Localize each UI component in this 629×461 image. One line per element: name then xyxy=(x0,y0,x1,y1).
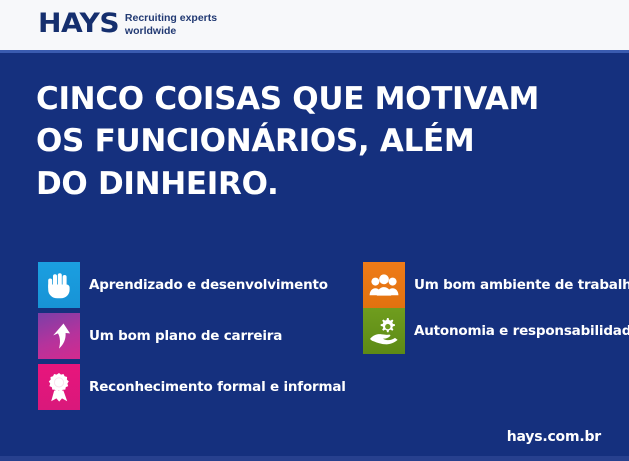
list-item-label: Um bom ambiente de trabalho xyxy=(414,277,629,293)
headline-line-1: CINCO COISAS QUE MOTIVAM xyxy=(36,78,576,120)
list-item: Um bom ambiente de trabalho xyxy=(363,262,629,308)
headline-line-2: OS FUNCIONÁRIOS, ALÉM xyxy=(36,120,576,162)
list-item: Reconhecimento formal e informal xyxy=(38,364,346,410)
benefits-list-left: Aprendizado e desenvolvimento Um bom pla… xyxy=(38,262,346,410)
list-item-label: Autonomia e responsabilidade xyxy=(414,323,629,339)
up-arrow-icon xyxy=(38,313,80,359)
list-item: Um bom plano de carreira xyxy=(38,313,346,359)
list-item-label: Um bom plano de carreira xyxy=(89,328,282,344)
list-item-label: Reconhecimento formal e informal xyxy=(89,379,346,395)
tagline-line-2: worldwide xyxy=(125,25,176,37)
page-title: CINCO COISAS QUE MOTIVAM OS FUNCIONÁRIOS… xyxy=(36,78,576,205)
tagline-line-1: Recruiting experts xyxy=(125,12,217,24)
hays-logo-lockup: HAYS Recruiting experts worldwide xyxy=(38,10,217,38)
footer-accent-strip xyxy=(0,456,629,461)
headline-line-3: DO DINHEIRO. xyxy=(36,163,576,205)
header-divider-rule xyxy=(0,50,629,53)
list-item: Autonomia e responsabilidade xyxy=(363,308,629,354)
benefits-list-right: Um bom ambiente de trabalho Autonomia e … xyxy=(363,262,629,354)
award-ribbon-icon xyxy=(38,364,80,410)
hays-wordmark-logo: HAYS xyxy=(38,10,119,37)
hays-infographic-poster: HAYS Recruiting experts worldwide CINCO … xyxy=(0,0,629,461)
list-item: Aprendizado e desenvolvimento xyxy=(38,262,346,308)
hand-holding-gear-icon xyxy=(363,308,405,354)
logo-tagline: Recruiting experts worldwide xyxy=(125,10,217,38)
people-group-icon xyxy=(363,262,405,308)
list-item-label: Aprendizado e desenvolvimento xyxy=(89,277,328,293)
hand-icon xyxy=(38,262,80,308)
website-url[interactable]: hays.com.br xyxy=(507,429,601,445)
